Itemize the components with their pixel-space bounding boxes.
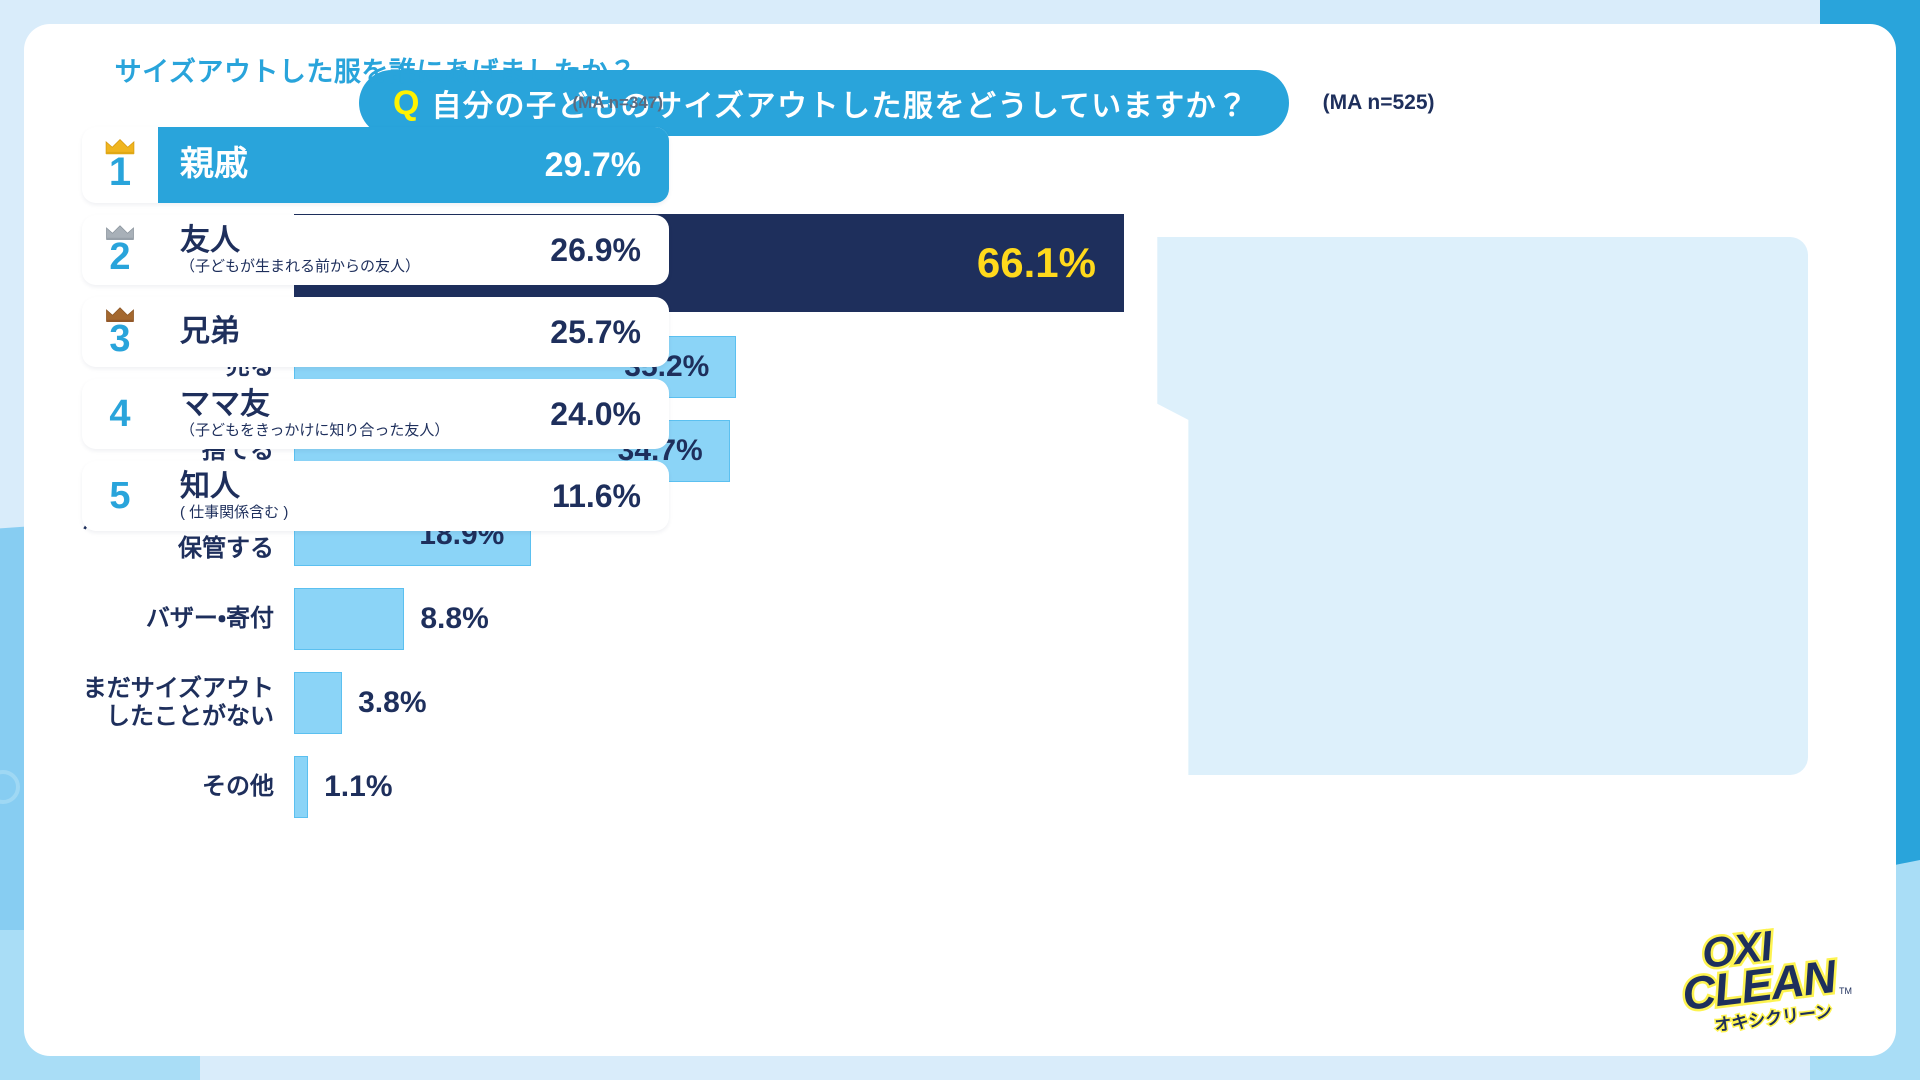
- decorative-circle-icon: [0, 770, 20, 804]
- rank-percentage: 25.7%: [550, 314, 641, 351]
- list-item: 2 友人 （子どもが生まれる前からの友人） 26.9%: [82, 215, 669, 285]
- bar-value: 8.8%: [404, 602, 488, 636]
- bar-row: バザー・寄付 8.8%: [24, 588, 1124, 650]
- bar-track: 1.1%: [294, 756, 1124, 818]
- bar-value: 3.8%: [342, 686, 426, 720]
- ranking-sample-size-label: (MA n=347): [82, 93, 669, 113]
- rank-name: ママ友: [180, 389, 449, 421]
- rank-name: 親戚: [180, 147, 248, 183]
- rank-name-wrap: ママ友 （子どもをきっかけに知り合った友人）: [180, 389, 449, 438]
- rank-body: ママ友 （子どもをきっかけに知り合った友人） 24.0%: [158, 379, 669, 449]
- list-item: 4 ママ友 （子どもをきっかけに知り合った友人） 24.0%: [82, 379, 669, 449]
- list-item: 1 親戚 29.7%: [82, 127, 669, 203]
- rank-percentage: 26.9%: [550, 232, 641, 269]
- rank-number-cell: 5: [82, 461, 158, 531]
- bar-fill: [294, 672, 342, 734]
- bar-fill: [294, 756, 308, 818]
- rank-body: 親戚 29.7%: [158, 127, 669, 203]
- rank-number-cell: 3: [82, 297, 158, 367]
- bar-row: まだサイズアウト したことがない 3.8%: [24, 672, 1124, 734]
- rank-percentage: 29.7%: [545, 146, 641, 185]
- ranking-panel: サイズアウトした服を誰にあげましたか？ (MA n=347) 1 親戚: [24, 24, 699, 562]
- bar-value: 1.1%: [308, 770, 392, 804]
- rank-body: 兄弟 25.7%: [158, 297, 669, 367]
- sample-size-label: (MA n=525): [1323, 91, 1435, 115]
- bar-row: その他 1.1%: [24, 756, 1124, 818]
- bar-fill: [294, 588, 404, 650]
- ranking-list: 1 親戚 29.7%: [82, 127, 669, 531]
- rank-number-cell: 1: [82, 127, 158, 203]
- oxiclean-logo: OXI CLEAN オキシクリーン TM: [1678, 924, 1854, 1032]
- bar-label: その他: [24, 773, 294, 801]
- bar-value: 66.1%: [977, 239, 1124, 287]
- rank-percentage: 24.0%: [550, 396, 641, 433]
- rank-name: 知人: [180, 471, 288, 503]
- infographic-page: Q 自分の子どものサイズアウトした服をどうしていますか？ (MA n=525) …: [0, 0, 1920, 1080]
- rank-number: 1: [109, 152, 131, 192]
- rank-number-cell: 2: [82, 215, 158, 285]
- rank-name: 兄弟: [180, 316, 240, 348]
- bar-label: まだサイズアウト したことがない: [24, 675, 294, 732]
- content-card: Q 自分の子どものサイズアウトした服をどうしていますか？ (MA n=525) …: [24, 24, 1896, 1056]
- bar-label-text: まだサイズアウト: [83, 675, 274, 702]
- ranking-panel-background: [1133, 237, 1808, 775]
- rank-name-wrap: 親戚: [180, 147, 248, 183]
- rank-name-wrap: 友人 （子どもが生まれる前からの友人）: [180, 225, 420, 274]
- bar-label-text-2: したことがない: [106, 703, 274, 730]
- rank-number: 4: [109, 395, 130, 433]
- ranking-title: サイズアウトした服を誰にあげましたか？: [82, 50, 669, 89]
- bar-label-text: バザー・寄付: [146, 605, 274, 632]
- bar-track: 3.8%: [294, 672, 1124, 734]
- rank-body: 友人 （子どもが生まれる前からの友人） 26.9%: [158, 215, 669, 285]
- rank-number: 2: [109, 238, 130, 276]
- rank-number: 5: [109, 477, 130, 515]
- bar-track: 8.8%: [294, 588, 1124, 650]
- bar-label: バザー・寄付: [24, 605, 294, 633]
- rank-name-wrap: 兄弟: [180, 316, 240, 348]
- rank-body: 知人 ( 仕事関係含む ) 11.6%: [158, 461, 669, 531]
- rank-subtitle: ( 仕事関係含む ): [180, 505, 288, 521]
- rank-name-wrap: 知人 ( 仕事関係含む ): [180, 471, 288, 520]
- bar-label-text: その他: [202, 773, 274, 800]
- rank-subtitle: （子どもが生まれる前からの友人）: [180, 259, 420, 275]
- rank-subtitle: （子どもをきっかけに知り合った友人）: [180, 423, 449, 439]
- list-item: 3 兄弟 25.7%: [82, 297, 669, 367]
- rank-percentage: 11.6%: [552, 478, 641, 515]
- logo-trademark: TM: [1839, 986, 1852, 996]
- rank-number: 3: [109, 320, 130, 358]
- rank-name: 友人: [180, 225, 420, 257]
- list-item: 5 知人 ( 仕事関係含む ) 11.6%: [82, 461, 669, 531]
- rank-number-cell: 4: [82, 379, 158, 449]
